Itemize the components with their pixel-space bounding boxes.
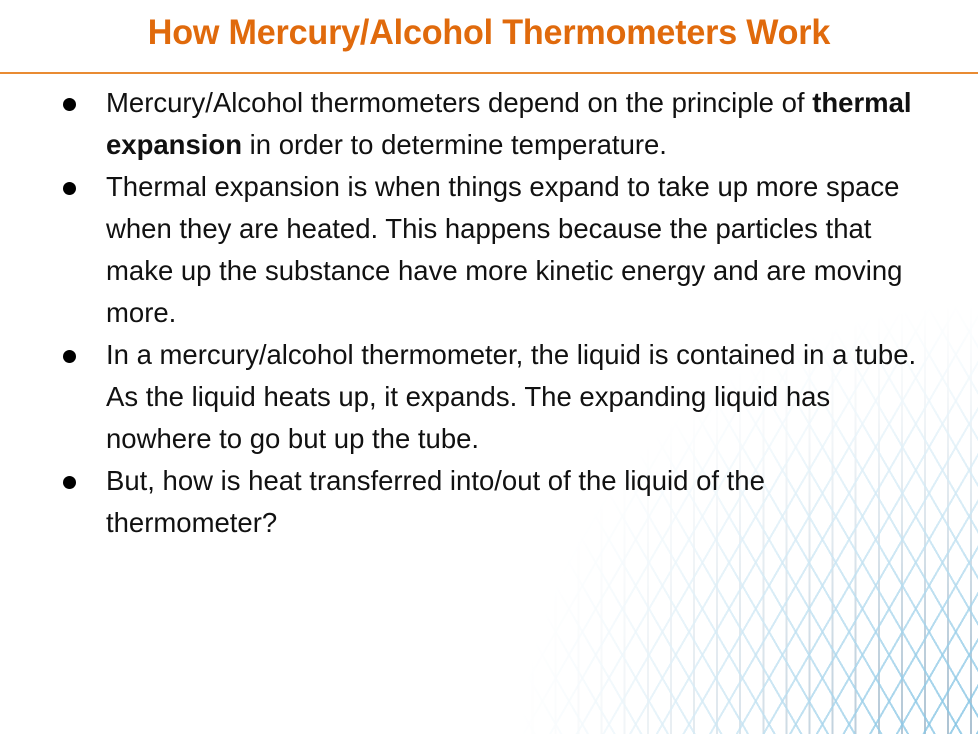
- bullet-list: Mercury/Alcohol thermometers depend on t…: [0, 82, 978, 544]
- bullet-dot-icon: [63, 182, 76, 195]
- bullet-dot-icon: [63, 476, 76, 489]
- title-divider-rule: [0, 72, 978, 74]
- text-run: But, how is heat transferred into/out of…: [106, 465, 765, 538]
- page-title: How Mercury/Alcohol Thermometers Work: [12, 13, 966, 53]
- list-item-text: But, how is heat transferred into/out of…: [106, 460, 936, 544]
- text-run: Thermal expansion is when things expand …: [106, 171, 902, 328]
- slide-canvas: How Mercury/Alcohol Thermometers Work Me…: [0, 0, 978, 734]
- list-item-text: Thermal expansion is when things expand …: [106, 166, 936, 334]
- list-item-text: In a mercury/alcohol thermometer, the li…: [106, 334, 936, 460]
- list-item: But, how is heat transferred into/out of…: [0, 460, 978, 544]
- bullet-dot-icon: [63, 350, 76, 363]
- text-run: Mercury/Alcohol thermometers depend on t…: [106, 87, 812, 118]
- list-item-text: Mercury/Alcohol thermometers depend on t…: [106, 82, 936, 166]
- text-run: in order to determine temperature.: [242, 129, 667, 160]
- list-item: Mercury/Alcohol thermometers depend on t…: [0, 82, 978, 166]
- title-bar: How Mercury/Alcohol Thermometers Work: [0, 0, 978, 73]
- list-item: In a mercury/alcohol thermometer, the li…: [0, 334, 978, 460]
- list-item: Thermal expansion is when things expand …: [0, 166, 978, 334]
- text-run: In a mercury/alcohol thermometer, the li…: [106, 339, 916, 454]
- bullet-dot-icon: [63, 98, 76, 111]
